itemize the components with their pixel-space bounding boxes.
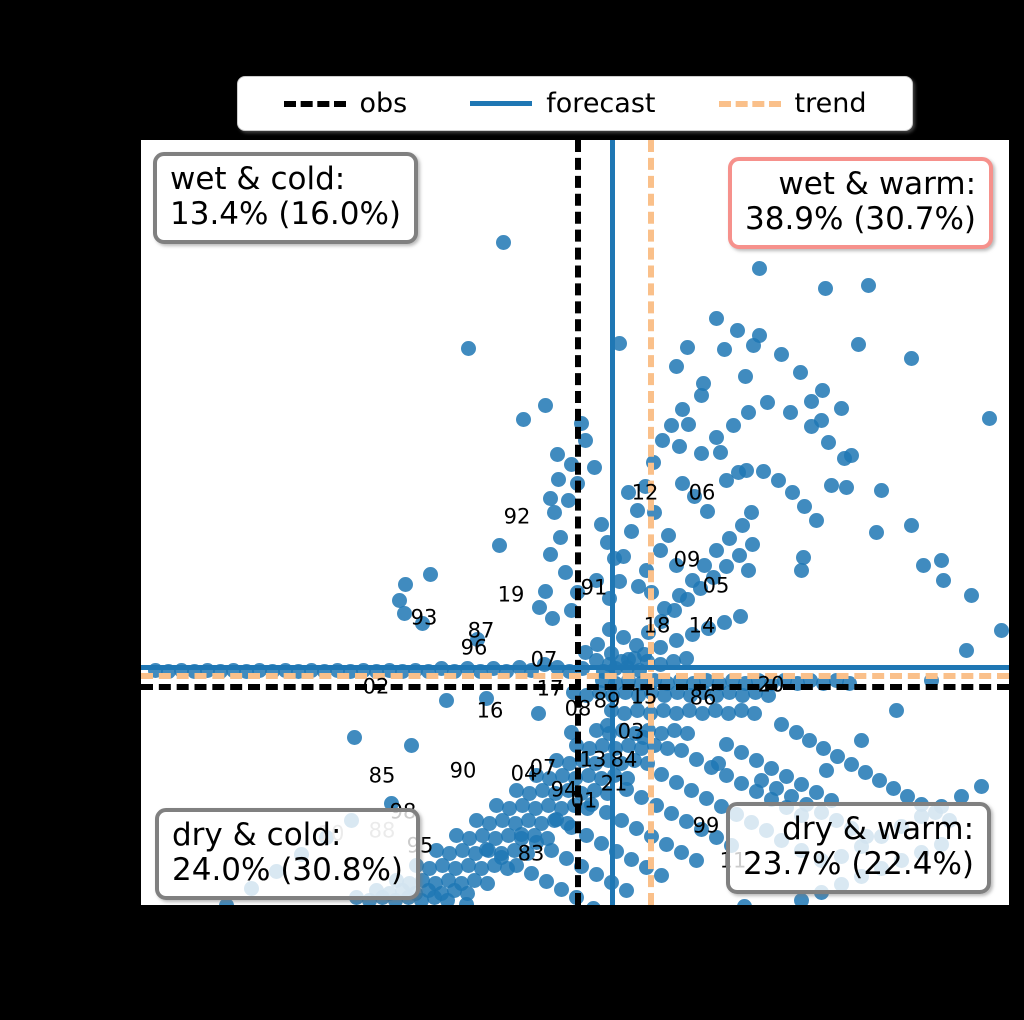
point-label: 84 (611, 750, 638, 771)
scatter-point (644, 585, 659, 600)
scatter-point (629, 821, 644, 836)
dashed-line-icon (284, 101, 346, 107)
legend: obs forecast trend (237, 76, 913, 131)
scatter-point (869, 525, 884, 540)
scatter-point (512, 660, 527, 675)
scatter-point (964, 588, 979, 603)
scatter-point (733, 609, 748, 624)
legend-entry-trend: trend (719, 90, 867, 117)
point-label: 08 (565, 699, 592, 720)
scatter-point (734, 745, 749, 760)
point-label: 85 (369, 766, 396, 787)
scatter-point (809, 785, 824, 800)
scatter-point (291, 664, 306, 679)
quadrant-title-dry-cold: dry & cold: (172, 818, 403, 853)
scatter-point (872, 773, 887, 788)
point-label: 86 (690, 688, 717, 709)
scatter-point (461, 341, 476, 356)
scatter-point (814, 413, 829, 428)
scatter-point (330, 663, 345, 678)
point-label: 96 (461, 638, 488, 659)
point-label: 12 (632, 483, 659, 504)
scatter-point (252, 663, 267, 678)
scatter-point (538, 584, 553, 599)
scatter-point (594, 836, 609, 851)
scatter-point (265, 664, 280, 679)
scatter-point (161, 664, 176, 679)
scatter-point (440, 893, 455, 906)
point-label: 92 (504, 507, 531, 528)
scatter-point (749, 753, 764, 768)
scatter-point (434, 661, 449, 676)
scatter-point (494, 850, 509, 865)
scatter-point (794, 777, 809, 792)
scatter-point (439, 693, 454, 708)
point-label: 02 (363, 677, 390, 698)
point-label: 83 (518, 844, 545, 865)
scatter-point (664, 806, 679, 821)
scatter-point (647, 505, 662, 520)
scatter-point (774, 717, 789, 732)
scatter-point (731, 465, 746, 480)
scatter-point (709, 430, 724, 445)
scatter-point (994, 623, 1009, 638)
scatter-point (719, 559, 734, 574)
scatter-point (700, 504, 715, 519)
scatter-point (213, 664, 228, 679)
scatter-point (774, 347, 789, 362)
scatter-point (480, 876, 495, 891)
scatter-point (735, 518, 750, 533)
scatter-point (616, 549, 631, 564)
plot-area: 9219938796911206090518140702178915862008… (141, 140, 1009, 905)
scatter-point (904, 351, 919, 366)
scatter-point (624, 852, 639, 867)
scatter-point (726, 418, 741, 433)
scatter-point (764, 761, 779, 776)
quadrant-box-dry-warm: dry & warm: 23.7% (22.4%) (726, 802, 991, 894)
legend-label-trend: trend (795, 90, 867, 117)
scatter-point (544, 843, 559, 858)
point-label: 05 (703, 576, 730, 597)
scatter-point (737, 899, 752, 906)
point-label: 93 (411, 608, 438, 629)
scatter-point (609, 844, 624, 859)
scatter-point (460, 661, 475, 676)
quadrant-value-wet-cold: 13.4% (16.0%) (170, 197, 401, 232)
scatter-point (604, 875, 619, 890)
scatter-point (524, 866, 539, 881)
quadrant-title-wet-cold: wet & cold: (170, 162, 401, 197)
scatter-point (844, 757, 859, 772)
scatter-point (531, 706, 546, 721)
scatter-point (574, 859, 589, 874)
scatter-point (499, 664, 514, 679)
point-label: 90 (450, 761, 477, 782)
scatter-point (694, 446, 709, 461)
scatter-point (653, 640, 668, 655)
point-label: 15 (631, 687, 658, 708)
scatter-point (785, 485, 800, 500)
legend-label-forecast: forecast (546, 90, 655, 117)
scatter-point (496, 235, 511, 250)
scatter-point (936, 573, 951, 588)
vertical-reference-line-trend (648, 140, 654, 905)
scatter-point (616, 630, 631, 645)
scatter-point (789, 725, 804, 740)
scatter-point (447, 664, 462, 679)
scatter-point (802, 733, 817, 748)
scatter-point (600, 535, 615, 550)
scatter-point (550, 447, 565, 462)
scatter-point (226, 663, 241, 678)
scatter-point (694, 388, 709, 403)
point-label: 01 (571, 791, 598, 812)
scatter-point (639, 563, 654, 578)
legend-label-obs: obs (360, 90, 408, 117)
scatter-point (654, 868, 669, 883)
scatter-point (532, 600, 547, 615)
scatter-point (756, 464, 771, 479)
scatter-point (569, 890, 584, 905)
legend-entry-obs: obs (284, 90, 408, 117)
scatter-point (854, 733, 869, 748)
quadrant-title-wet-warm: wet & warm: (745, 167, 976, 202)
scatter-point (200, 663, 215, 678)
scatter-point (794, 563, 809, 578)
scatter-point (793, 365, 808, 380)
scatter-point (624, 524, 639, 539)
point-label: 19 (498, 585, 525, 606)
scatter-point (744, 505, 759, 520)
scatter-point (934, 553, 949, 568)
scatter-point (594, 517, 609, 532)
scatter-point (804, 394, 819, 409)
scatter-point (783, 405, 798, 420)
point-label: 03 (618, 722, 645, 743)
scatter-point (679, 814, 694, 829)
scatter-point (538, 398, 553, 413)
scatter-point (794, 893, 809, 906)
scatter-point (680, 340, 695, 355)
scatter-point (734, 776, 749, 791)
scatter-point (459, 897, 474, 906)
quadrant-value-dry-cold: 24.0% (30.8%) (172, 853, 403, 888)
quadrant-title-dry-warm: dry & warm: (743, 812, 974, 847)
point-label: 06 (689, 483, 716, 504)
scatter-point (752, 261, 767, 276)
scatter-point (717, 342, 732, 357)
scatter-point (612, 336, 627, 351)
scatter-point (574, 416, 589, 431)
scatter-point (570, 476, 585, 491)
scatter-point (486, 661, 501, 676)
scatter-point (674, 845, 689, 860)
scatter-point (672, 439, 687, 454)
scatter-point (797, 499, 812, 514)
scatter-point (397, 606, 412, 621)
scatter-point (819, 763, 834, 778)
scatter-point (404, 738, 419, 753)
scatter-point (844, 448, 859, 463)
scatter-point (858, 765, 873, 780)
point-label: 07 (531, 650, 558, 671)
scatter-point (824, 478, 839, 493)
scatter-point (614, 813, 629, 828)
scatter-point (612, 574, 627, 589)
scatter-point (187, 664, 202, 679)
scatter-point (547, 505, 562, 520)
scatter-point (539, 874, 554, 889)
scatter-point (886, 781, 901, 796)
quadrant-box-wet-cold: wet & cold: 13.4% (16.0%) (153, 152, 418, 244)
scatter-point (738, 369, 753, 384)
scatter-point (174, 663, 189, 678)
scatter-point (659, 837, 674, 852)
scatter-point (398, 577, 413, 592)
scatter-point (709, 311, 724, 326)
scatter-point (660, 741, 675, 756)
scatter-point (492, 538, 507, 553)
scatter-point (717, 615, 732, 630)
scatter-point (745, 537, 760, 552)
quadrant-value-dry-warm: 23.7% (22.4%) (743, 847, 974, 882)
scatter-point (586, 901, 601, 906)
scatter-point (347, 730, 362, 745)
scatter-point (684, 783, 699, 798)
point-label: 16 (477, 701, 504, 722)
scatter-point (689, 752, 704, 767)
scatter-point (655, 433, 670, 448)
scatter-point (861, 278, 876, 293)
scatter-point (816, 741, 831, 756)
scatter-point (830, 749, 845, 764)
scatter-point (304, 663, 319, 678)
scatter-point (732, 548, 747, 563)
scatter-point (722, 531, 737, 546)
point-label: 14 (689, 616, 716, 637)
scatter-point (654, 767, 669, 782)
scatter-point (561, 493, 576, 508)
scatter-point (779, 769, 794, 784)
scatter-point (661, 528, 676, 543)
scatter-point (680, 592, 695, 607)
scatter-point (545, 611, 560, 626)
scatter-point (646, 455, 661, 470)
scatter-point (699, 791, 714, 806)
scatter-point (564, 603, 579, 618)
scatter-point (842, 676, 857, 691)
scatter-figure: obs forecast trend 921993879691120609051… (0, 0, 1024, 1020)
scatter-point (551, 472, 566, 487)
scatter-point (600, 718, 615, 733)
scatter-point (578, 433, 593, 448)
scatter-point (916, 558, 931, 573)
scatter-point (619, 883, 634, 898)
scatter-point (516, 412, 531, 427)
scatter-point (747, 706, 762, 721)
scatter-point (669, 359, 684, 374)
scatter-point (639, 860, 654, 875)
scatter-point (669, 633, 684, 648)
scatter-point (543, 547, 558, 562)
scatter-point (749, 784, 764, 799)
quadrant-box-dry-cold: dry & cold: 24.0% (30.8%) (155, 808, 420, 900)
scatter-point (423, 567, 438, 582)
point-label: 21 (601, 774, 628, 795)
scatter-point (564, 820, 579, 835)
scatter-point (904, 518, 919, 533)
scatter-point (514, 827, 529, 842)
point-label: 99 (693, 816, 720, 837)
scatter-point (730, 323, 745, 338)
scatter-point (239, 664, 254, 679)
scatter-point (148, 663, 163, 678)
quadrant-box-wet-warm: wet & warm: 38.9% (30.7%) (728, 157, 993, 249)
scatter-point (874, 483, 889, 498)
point-label: 09 (674, 550, 701, 571)
scatter-point (669, 775, 684, 790)
scatter-point (579, 828, 594, 843)
scatter-point (752, 328, 767, 343)
scatter-point (680, 726, 695, 741)
point-label: 07 (530, 758, 557, 779)
scatter-point (675, 402, 690, 417)
scatter-point (674, 743, 689, 758)
point-label: 13 (580, 750, 607, 771)
scatter-point (408, 663, 423, 678)
scatter-point (818, 281, 833, 296)
scatter-point (959, 643, 974, 658)
scatter-point (630, 503, 645, 518)
scatter-point (649, 798, 664, 813)
scatter-point (675, 476, 690, 491)
scatter-point (564, 457, 579, 472)
scatter-point (473, 664, 488, 679)
scatter-point (760, 395, 775, 410)
scatter-point (599, 805, 614, 820)
scatter-point (421, 664, 436, 679)
scatter-point (809, 513, 824, 528)
scatter-point (719, 737, 734, 752)
scatter-point (851, 337, 866, 352)
scatter-point (640, 756, 655, 771)
point-label: 17 (537, 679, 564, 700)
scatter-point (839, 480, 854, 495)
scatter-point (558, 565, 573, 580)
scatter-point (343, 664, 358, 679)
point-label: 89 (594, 691, 621, 712)
scatter-point (564, 725, 579, 740)
scatter-point (395, 664, 410, 679)
scatter-point (689, 853, 704, 868)
scatter-point (679, 651, 694, 666)
scatter-point (889, 703, 904, 718)
scatter-point (1009, 473, 1010, 488)
scatter-point (664, 418, 679, 433)
quadrant-value-wet-warm: 38.9% (30.7%) (745, 202, 976, 237)
scatter-point (554, 882, 569, 897)
scatter-point (821, 435, 836, 450)
scatter-point (681, 417, 696, 432)
scatter-point (974, 779, 989, 794)
scatter-point (653, 543, 668, 558)
scatter-point (549, 812, 564, 827)
scatter-point (559, 851, 574, 866)
point-label: 91 (581, 578, 608, 599)
scatter-point (741, 405, 756, 420)
scatter-point (711, 756, 726, 771)
scatter-point (771, 473, 786, 488)
scatter-point (317, 664, 332, 679)
scatter-point (834, 401, 849, 416)
scatter-point (602, 622, 617, 637)
point-label: 20 (758, 675, 785, 696)
scatter-point (741, 563, 756, 578)
solid-line-icon (470, 101, 532, 106)
scatter-point (587, 460, 602, 475)
scatter-point (634, 790, 649, 805)
scatter-point (713, 445, 728, 460)
scatter-point (982, 411, 997, 426)
scatter-point (553, 530, 568, 545)
scatter-point (644, 829, 659, 844)
scatter-point (575, 661, 590, 676)
scatter-point (479, 842, 494, 857)
scatter-point (543, 491, 558, 506)
dashed-line-icon (719, 101, 781, 107)
scatter-point (709, 543, 724, 558)
scatter-point (589, 867, 604, 882)
scatter-point (278, 663, 293, 678)
point-label: 18 (644, 616, 671, 637)
scatter-point (924, 673, 939, 688)
legend-entry-forecast: forecast (470, 90, 655, 117)
